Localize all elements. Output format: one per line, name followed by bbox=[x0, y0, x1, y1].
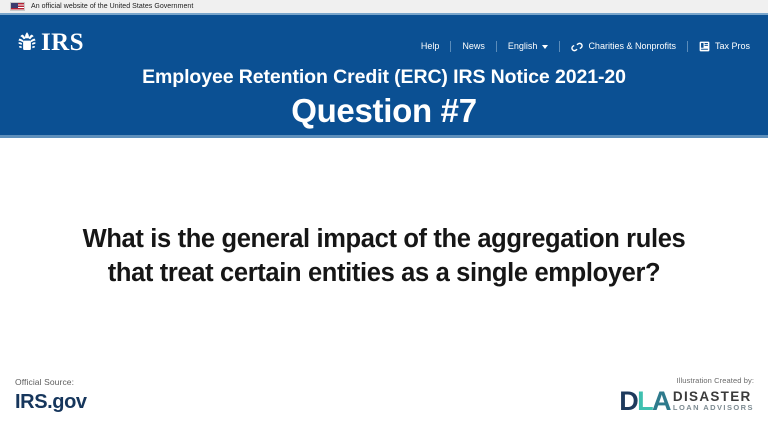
illustration-credit-label: Illustration Created by: bbox=[619, 377, 754, 385]
charities-ribbon-icon bbox=[571, 42, 583, 52]
nav-divider bbox=[687, 41, 688, 52]
dla-word-loan-advisors: LOAN ADVISORS bbox=[673, 404, 754, 412]
irs-eagle-emblem-icon bbox=[15, 30, 39, 54]
dla-wordmark: DISASTER LOAN ADVISORS bbox=[673, 390, 754, 412]
us-flag-icon bbox=[10, 2, 25, 11]
nav-divider bbox=[450, 41, 451, 52]
nav-item-news[interactable]: News bbox=[462, 42, 485, 51]
gov-banner-text: An official website of the United States… bbox=[31, 3, 193, 10]
chevron-down-icon bbox=[542, 45, 548, 49]
nav-divider bbox=[559, 41, 560, 52]
question-line-2: that treat certain entities as a single … bbox=[34, 256, 734, 290]
question-line-1: What is the general impact of the aggreg… bbox=[34, 222, 734, 256]
tax-pros-book-icon bbox=[699, 41, 710, 52]
irs-wordmark: IRS bbox=[41, 30, 84, 55]
nav-item-news-label: News bbox=[462, 42, 485, 51]
dla-word-disaster: DISASTER bbox=[673, 390, 754, 404]
nav-item-language-label: English bbox=[508, 42, 538, 51]
official-source-value[interactable]: IRS.gov bbox=[15, 392, 87, 412]
question-block: What is the general impact of the aggreg… bbox=[34, 222, 734, 290]
dla-monogram: DLA bbox=[619, 389, 670, 414]
nav-item-charities-label: Charities & Nonprofits bbox=[588, 42, 676, 51]
illustration-credit-block: Illustration Created by: DLA DISASTER LO… bbox=[619, 377, 754, 413]
nav-divider bbox=[496, 41, 497, 52]
nav-item-help-label: Help bbox=[421, 42, 440, 51]
irs-logo[interactable]: IRS bbox=[15, 29, 84, 55]
gov-banner: An official website of the United States… bbox=[0, 0, 768, 13]
band-top-divider bbox=[0, 13, 768, 15]
dla-letter-d: D bbox=[619, 386, 637, 416]
band-bottom-divider bbox=[0, 135, 768, 138]
header-title: Employee Retention Credit (ERC) IRS Noti… bbox=[0, 68, 768, 88]
header-subtitle: Question #7 bbox=[0, 94, 768, 127]
dla-letter-l: L bbox=[637, 386, 652, 416]
utility-nav: Help News English Charities & Nonprofits bbox=[421, 38, 750, 55]
nav-item-help[interactable]: Help bbox=[421, 42, 440, 51]
nav-item-language[interactable]: English bbox=[508, 42, 549, 51]
dla-logo[interactable]: DLA DISASTER LOAN ADVISORS bbox=[619, 389, 754, 414]
official-source-label: Official Source: bbox=[15, 378, 87, 387]
slide-root: An official website of the United States… bbox=[0, 0, 768, 432]
nav-item-tax-pros-label: Tax Pros bbox=[715, 42, 750, 51]
nav-item-tax-pros[interactable]: Tax Pros bbox=[699, 41, 750, 52]
official-source-block: Official Source: IRS.gov bbox=[15, 378, 87, 412]
nav-item-charities[interactable]: Charities & Nonprofits bbox=[571, 42, 676, 52]
dla-letter-a: A bbox=[652, 386, 670, 416]
